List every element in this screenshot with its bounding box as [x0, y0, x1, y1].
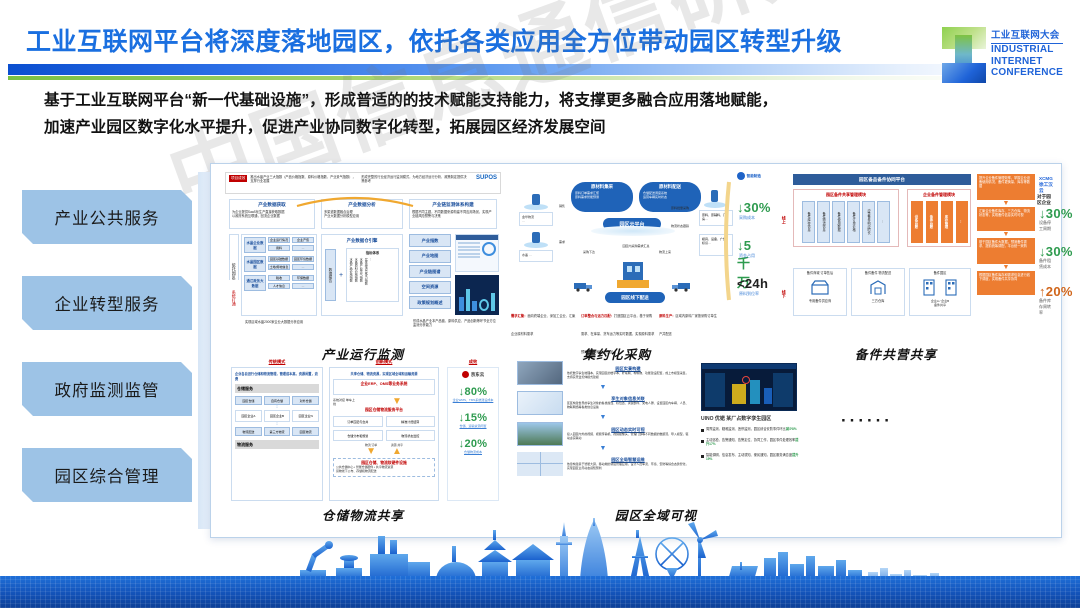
fig2-metric-1-note: 采购成本	[739, 215, 755, 221]
fig1-col3-title: 产业链监测体系构建	[412, 202, 494, 208]
logo-text-block: 工业互联网大会 INDUSTRIAL INTERNET CONFERENCE	[991, 31, 1063, 78]
sidebar-item-label: 产业公共服务	[55, 205, 160, 229]
fig1-row2-name: 水晶园区数据	[244, 256, 266, 272]
fig2-supplier-icon-1	[523, 192, 549, 210]
figure-intensive-procurement[interactable]: 智能制造 原材料集采 原料订单需求汇聚 原料需求智能预测 原材料配送 仓储配送调…	[511, 172, 761, 337]
fig1-banner-point-1: 推出水晶产业三大指数（产品价格指数、原料价格指数、产业景气指数），支撑行业发展	[250, 175, 358, 184]
fig2-left-node-2: 水晶 …	[519, 250, 553, 262]
fig2-logistics-hub-icon	[607, 258, 659, 292]
logo-en-line2: INTERNET	[991, 56, 1063, 68]
fig4-col2: 共享仓储、物流资源，实现区域全域和运输资源 企业ERP、OMS等业务系统 系统对…	[329, 367, 439, 501]
footer-decoration	[0, 518, 1080, 608]
fig4-col1: 企业各自进行仓储和物流管理，管理成本高，资源闲置，浪费 仓储服务 园区仓储 自有…	[231, 367, 323, 501]
fig3-target-label: 对于园区企业	[1037, 194, 1053, 206]
fig1-brand-supos: SUPOS	[476, 175, 497, 181]
figure-industry-monitoring[interactable]: 项目成效 推出水晶产业三大指数（产品价格指数、原料价格指数、产业景气指数），支撑…	[225, 172, 501, 337]
fig3-metric-1: ↓30%	[1039, 206, 1073, 221]
building-b-icon	[944, 278, 958, 296]
header-green-underline	[8, 76, 1008, 80]
fig2-bubble-1: 原材料集采 原料订单需求汇聚 原料需求智能预测	[571, 182, 633, 212]
subtitle-line-2: 加速产业园区数字化水平提升，促进产业协同数字化转型，拓展园区经济发展空间	[44, 115, 944, 142]
fig3-node-3: 备件园区 企业A / 企业B 备件共享	[909, 268, 971, 316]
fig2-offline-delivery: 园区线下配送	[605, 292, 665, 303]
fig3-node-1: 备件商城 订单售后 专用备件供应商	[793, 268, 847, 316]
sidebar-item-label: 政府监测监管	[55, 377, 160, 401]
figure-warehouse-logistics[interactable]: 传统模式 创新模式 成效 企业各自进行仓储和物流管理，管理成本高，资源闲置，浪费…	[225, 359, 501, 521]
fig1-banner-point-2: 形成完整的行业经济运行监测模式，为地方经济运行分析、政策制定提供决策参考	[361, 175, 469, 184]
footer-water-band	[0, 576, 1080, 608]
fig3-metric-2: ↓30%	[1039, 244, 1073, 259]
fig2-brand: 智能制造	[737, 172, 761, 180]
building-a-icon	[922, 278, 936, 296]
fig1-center-engine: 产业数据仓引擎 数据报告 + 指标体系 水晶产品价格指数 水晶原料价格指数 水晶…	[321, 234, 403, 316]
fig2-left-node-1: 金华物流…	[519, 212, 553, 226]
fig1-foot-right: 形成水晶产业本产品链、原料供应、产品创新等环节全方位监测分析能力	[413, 319, 499, 328]
fig1-left-rows: 水晶企业数据 企业运行情况 企业产值 用料 … 水晶园区数据	[241, 234, 317, 316]
fig2-bubble-2: 原材料配送 仓储配送调度系统 运营车辆实时状态	[639, 182, 701, 212]
fig1-dashboard-thumb-1	[455, 234, 499, 272]
fig5-thumb-3	[517, 422, 563, 446]
more-ellipsis: ······	[841, 411, 893, 431]
logo-t-mark-icon	[942, 27, 986, 83]
fig1-col1-b2: 以政府系统互联通，回流企业数据	[232, 214, 312, 218]
sidebar-item-park-management[interactable]: 园区综合管理	[22, 448, 192, 502]
fig2-truck-left-icon	[573, 280, 595, 292]
fig2-supplier-icon-2	[523, 230, 549, 248]
fig1-row3-name: 通江政务大数据	[244, 275, 266, 291]
fig3-metric-1-note: 设备停工周期	[1039, 220, 1053, 232]
fig3-module-right: 企业备件管理模块 设备台账 备件台账 库存管理 …	[907, 189, 971, 247]
slide-header: 工业互联网平台将深度落地园区，依托各类应用全方位带动园区转型升级	[0, 18, 1080, 62]
page-title: 工业互联网平台将深度落地园区，依托各类应用全方位带动园区转型升级	[26, 22, 842, 58]
sidebar-item-industry-public-service[interactable]: 产业公共服务	[22, 190, 192, 244]
fig3-metric-2-note: 备件租赁成本	[1039, 258, 1053, 270]
fig5-thumb-1	[517, 361, 563, 385]
fig2-metric-1: ↓30%	[737, 200, 771, 215]
fig1-banner: 项目成效 推出水晶产业三大指数（产品价格指数、原料价格指数、产业景气指数），支撑…	[225, 172, 501, 194]
subtitle-line-1: 基于工业互联网平台“新一代基础设施”，形成普适的的技术赋能支持能力，将支撑更多融…	[44, 88, 944, 115]
fig2-cloud-glow	[591, 226, 675, 236]
figure-more-placeholder: ······	[811, 359, 1051, 521]
shop-icon	[810, 279, 830, 295]
fig2-metric-3: <24h	[737, 276, 768, 291]
fig1-col3-b1: 根据不同主题，不同数据来源构建不同应用场景，实现产业链风险预警与决策	[412, 210, 494, 219]
fig3-steps: 提升企业备件管理效率，掌握企业设备使用情况、备件更换量、库存等数据 ▼ 汇聚企业…	[977, 174, 1035, 295]
fig3-node-2: 备件备件 物流配送 三方仓库	[851, 268, 905, 316]
fig1-banner-tag: 项目成效	[229, 175, 247, 182]
sidebar-item-government-monitoring[interactable]: 政府监测监管	[22, 362, 192, 416]
sidebar-item-label: 企业转型服务	[55, 291, 160, 315]
warehouse-icon	[869, 279, 887, 295]
header-gradient-bar	[8, 64, 1008, 75]
logo-en-line3: CONFERENCE	[991, 67, 1063, 79]
fig4-col1-title: 传统模式	[231, 359, 323, 365]
content-board: 项目成效 推出水晶产业三大指数（产品价格指数、原料价格指数、产业景气指数），支撑…	[210, 163, 1062, 538]
fig1-col3: 产业链监测体系构建 根据不同主题，不同数据来源构建不同应用场景，实现产业链风险预…	[409, 199, 497, 229]
conference-logo: 工业互联网大会 INDUSTRIAL INTERNET CONFERENCE	[942, 26, 1072, 84]
fig1-foot-left: 实现区域水晶2000家企业大数据分析应用	[245, 320, 355, 324]
fig1-col2-b2: 产业大数据分析模型应用	[324, 214, 400, 218]
fig5-steps: 园区实景构建 依托数字孪生地理本，实现园区的楼宇本、杆塔网、构筑物、功能建设配置…	[517, 361, 689, 476]
fig4-col3: 京东云 ↓80% 企业WMS、TMS系统建设成本 ↓15% 仓储、运输资源闲置 …	[447, 367, 499, 501]
fig2-metric-ribbon	[723, 180, 735, 302]
fig2-metric-3-note: 原料到位率	[739, 291, 759, 297]
fig5-brand: UINO 优锘 某厂占数字孪生园区	[701, 415, 771, 422]
sidebar-item-label: 园区综合管理	[55, 463, 160, 487]
fig1-engine-title: 产业数据仓引擎	[325, 238, 399, 244]
fig5-thumb-4	[517, 452, 563, 476]
figure-park-full-visibility[interactable]: 园区实景构建 依托数字孪生地理本，实现园区的楼宇本、杆塔网、构筑物、功能建设配置…	[511, 359, 801, 521]
logo-cn-label: 工业互联网大会	[991, 31, 1063, 44]
fig1-row1-name: 水晶企业数据	[244, 237, 266, 253]
logo-en-line1: INDUSTRIAL	[991, 44, 1063, 56]
fig1-right-buttons[interactable]: 产业指数 产业地图 产业链图谱 空间资源 政策规划概述	[409, 234, 451, 309]
fig3-rail-up: 线上	[779, 174, 789, 266]
fig3-brand: XCMG 徐工汉云	[1039, 176, 1053, 194]
fig5-points: 周界监测、疑难监测、违停监测，园区综合安防事件环比减少8% 主动巡检、告警通知、…	[701, 427, 799, 461]
fig3-rail-down: 线下	[779, 270, 789, 318]
subtitle-block: 基于工业互联网平台“新一代基础设施”，形成普适的的技术赋能支持能力，将支撑更多融…	[44, 88, 944, 141]
fig4-col2-title: 创新模式	[329, 359, 439, 365]
fig1-arc-icon	[295, 194, 415, 208]
fig5-digital-twin-dashboard	[701, 363, 797, 411]
fig2-metric-2-note: 资金占用	[739, 253, 755, 259]
sidebar-item-enterprise-transformation-service[interactable]: 企业转型服务	[22, 276, 192, 330]
fig2-truck-right-icon	[671, 280, 693, 292]
fig3-platform-title: 园区备品备件协同平台	[793, 174, 971, 185]
sidebar: 产业公共服务 企业转型服务 政府监测监管 园区综合管理	[22, 190, 192, 534]
fig3-metric-3-note: 备件库存周转率	[1039, 298, 1053, 316]
figure-spare-parts-sharing[interactable]: 园区备品备件协同平台 线上 园区备件共享管理模块 备件库存信息 备件物流信息 备…	[771, 172, 1053, 337]
fig4-col3-title: 成效	[447, 359, 499, 365]
fig3-metric-3: ↑20%	[1039, 284, 1073, 299]
fig5-thumb-2	[517, 391, 563, 415]
fig3-module-left: 园区备件共享管理模块 备件库存信息 备件物流信息 备件使用数据 备件订单价格 应…	[793, 189, 899, 247]
fig1-dashboard-thumb-2	[455, 275, 499, 315]
slide-root: 工业互联网平台将深度落地园区，依托各类应用全方位带动园区转型升级 工业互联网大会…	[0, 0, 1080, 608]
fig1-rail-2: 系统打通	[229, 280, 239, 316]
skyline-silhouette-icon	[0, 518, 1080, 582]
